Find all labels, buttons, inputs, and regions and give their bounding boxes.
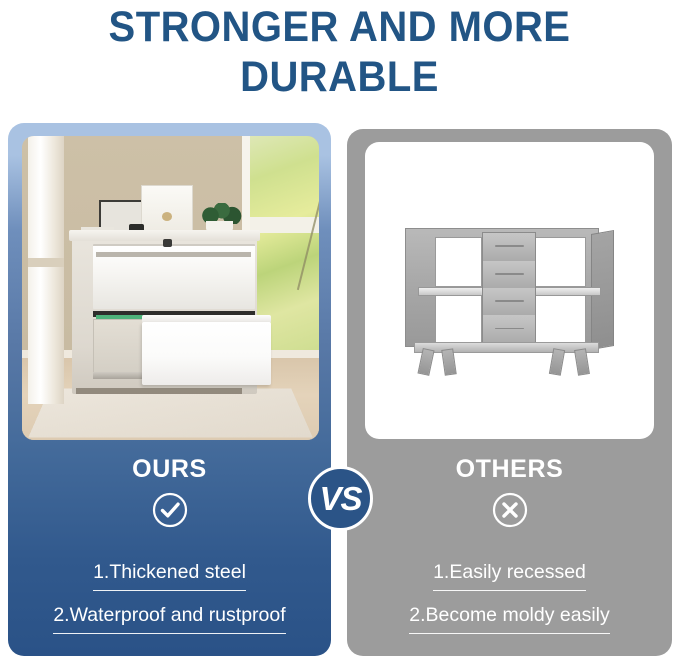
vs-badge: VS — [308, 466, 373, 531]
sideboard-open-cube — [435, 294, 483, 344]
list-item: 2.Waterproof and rustproof — [53, 603, 285, 634]
ours-feature-list: 1.Thickened steel 2.Waterproof and rustp… — [8, 560, 331, 646]
floor-rug — [28, 389, 312, 437]
sideboard-drawer-column — [482, 232, 536, 348]
room-pillar — [28, 136, 64, 404]
sideboard-shelf-left — [418, 287, 487, 296]
tree-branch — [297, 152, 319, 291]
cabinet-upper-handle — [96, 252, 251, 257]
sideboard-drawer — [483, 261, 535, 289]
board-emblem — [162, 212, 172, 221]
others-product-photo — [365, 142, 654, 439]
drawer-pull — [495, 273, 524, 275]
drawer-pull — [495, 300, 524, 302]
check-circle-icon — [151, 491, 189, 529]
sideboard-open-cube — [534, 294, 586, 344]
others-column-label: OTHERS — [347, 455, 672, 484]
cabinet-base-shadow — [76, 388, 242, 394]
sideboard-open-cube — [534, 237, 586, 287]
sideboard-open-cube — [435, 237, 483, 287]
sideboard-drawer — [483, 233, 535, 261]
cabinet-open-drawer-front — [142, 322, 271, 385]
wooden-sideboard — [405, 228, 613, 371]
list-item: 1.Easily recessed — [433, 560, 586, 591]
cabinet-lock — [163, 239, 172, 247]
drawer-pull — [495, 245, 524, 247]
comparison-panel-others: OTHERS 1.Easily recessed 2.Become moldy … — [347, 129, 672, 656]
page-title-line-1: STRONGER AND MORE — [24, 2, 655, 52]
sideboard-drawer — [483, 288, 535, 316]
white-file-cabinet — [72, 236, 256, 394]
sideboard-shelf-right — [530, 287, 601, 296]
list-item: 2.Become moldy easily — [409, 603, 610, 634]
x-circle-icon — [491, 491, 529, 529]
page-title: STRONGER AND MORE DURABLE — [24, 2, 655, 102]
ours-column-label: OURS — [8, 455, 331, 484]
comparison-panel-ours: OURS 1.Thickened steel 2.Waterproof and … — [8, 123, 331, 656]
white-board-decor — [141, 185, 193, 236]
ours-product-photo — [22, 136, 319, 440]
list-item: 1.Thickened steel — [93, 560, 246, 591]
drawer-pull — [495, 328, 524, 330]
room-pillar-band — [28, 258, 64, 267]
sideboard-leg — [549, 348, 566, 376]
sideboard-drawer — [483, 315, 535, 343]
page-title-line-2: DURABLE — [24, 52, 655, 102]
others-feature-list: 1.Easily recessed 2.Become moldy easily — [347, 560, 672, 646]
